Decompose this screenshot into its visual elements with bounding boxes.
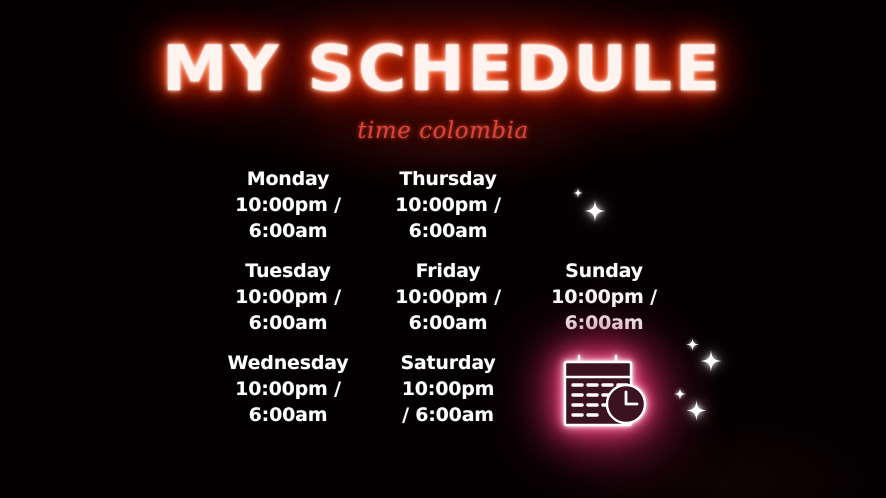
day-time: 10:00pm / 6:00am: [528, 284, 680, 336]
page-subtitle: time colombia: [0, 118, 886, 144]
day-label: Saturday: [368, 350, 528, 376]
day-time: 10:00pm / 6:00am: [208, 192, 368, 244]
schedule-cell-tuesday: Tuesday 10:00pm / 6:00am: [208, 258, 368, 336]
schedule-row: Monday 10:00pm / 6:00am Thursday 10:00pm…: [208, 166, 708, 258]
day-label: Wednesday: [208, 350, 368, 376]
day-time: 10:00pm / 6:00am: [368, 192, 528, 244]
title-container: MY SCHEDULE: [0, 38, 886, 100]
day-time: 10:00pm / 6:00am: [368, 376, 528, 428]
schedule-cell-wednesday: Wednesday 10:00pm / 6:00am: [208, 350, 368, 428]
day-label: Sunday: [528, 258, 680, 284]
schedule-cell-monday: Monday 10:00pm / 6:00am: [208, 166, 368, 244]
schedule-cell-saturday: Saturday 10:00pm / 6:00am: [368, 350, 528, 428]
schedule-cell-thursday: Thursday 10:00pm / 6:00am: [368, 166, 528, 244]
day-label: Thursday: [368, 166, 528, 192]
day-label: Monday: [208, 166, 368, 192]
schedule-cell-sunday: Sunday 10:00pm / 6:00am: [528, 258, 680, 336]
day-label: Friday: [368, 258, 528, 284]
day-time: 10:00pm / 6:00am: [208, 376, 368, 428]
schedule-poster: MY SCHEDULE time colombia Monday 10:00pm…: [0, 0, 886, 498]
page-title: MY SCHEDULE: [162, 38, 723, 100]
schedule-row: Tuesday 10:00pm / 6:00am Friday 10:00pm …: [208, 258, 708, 350]
day-time: 10:00pm / 6:00am: [368, 284, 528, 336]
day-time: 10:00pm / 6:00am: [208, 284, 368, 336]
calendar-clock-icon: [560, 352, 652, 436]
day-label: Tuesday: [208, 258, 368, 284]
schedule-cell-friday: Friday 10:00pm / 6:00am: [368, 258, 528, 336]
